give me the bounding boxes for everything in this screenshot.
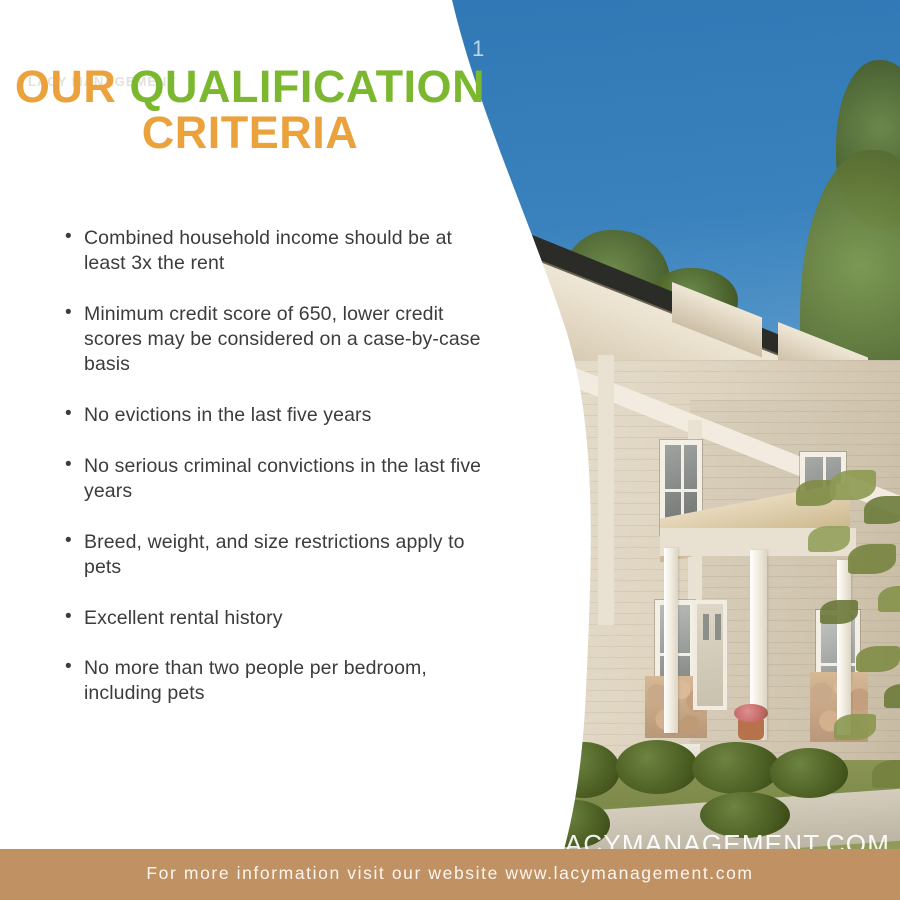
shrub <box>616 740 698 794</box>
page-number: 1 <box>472 36 484 62</box>
criteria-item: Breed, weight, and size restrictions app… <box>62 530 482 580</box>
title-line-1: OUR QUALIFICATION <box>0 64 500 110</box>
criteria-item: No evictions in the last five years <box>62 403 482 428</box>
criteria-item: No serious criminal convictions in the l… <box>62 454 482 504</box>
house-trim <box>598 355 614 625</box>
shrub <box>548 742 620 798</box>
title-word-qualification: QUALIFICATION <box>129 61 485 112</box>
slide-canvas: LACY MANAGEMENT OUR QUALIFICATION CRITER… <box>0 0 900 900</box>
title-word-our: OUR <box>15 61 117 112</box>
flowers <box>734 704 768 722</box>
title-line-2: CRITERIA <box>0 110 500 156</box>
criteria-item: No more than two people per bedroom, inc… <box>62 656 482 706</box>
criteria-item: Minimum credit score of 650, lower credi… <box>62 302 482 377</box>
front-door <box>693 600 727 710</box>
criteria-item: Combined household income should be at l… <box>62 226 482 276</box>
criteria-item: Excellent rental history <box>62 606 482 631</box>
page-title: OUR QUALIFICATION CRITERIA <box>0 64 500 156</box>
footer-text: For more information visit our website w… <box>0 863 900 884</box>
footer-bar: For more information visit our website w… <box>0 849 900 900</box>
foreground-tree <box>790 470 900 850</box>
shrub <box>692 742 780 794</box>
criteria-list: Combined household income should be at l… <box>62 226 482 732</box>
porch-column <box>664 548 678 733</box>
